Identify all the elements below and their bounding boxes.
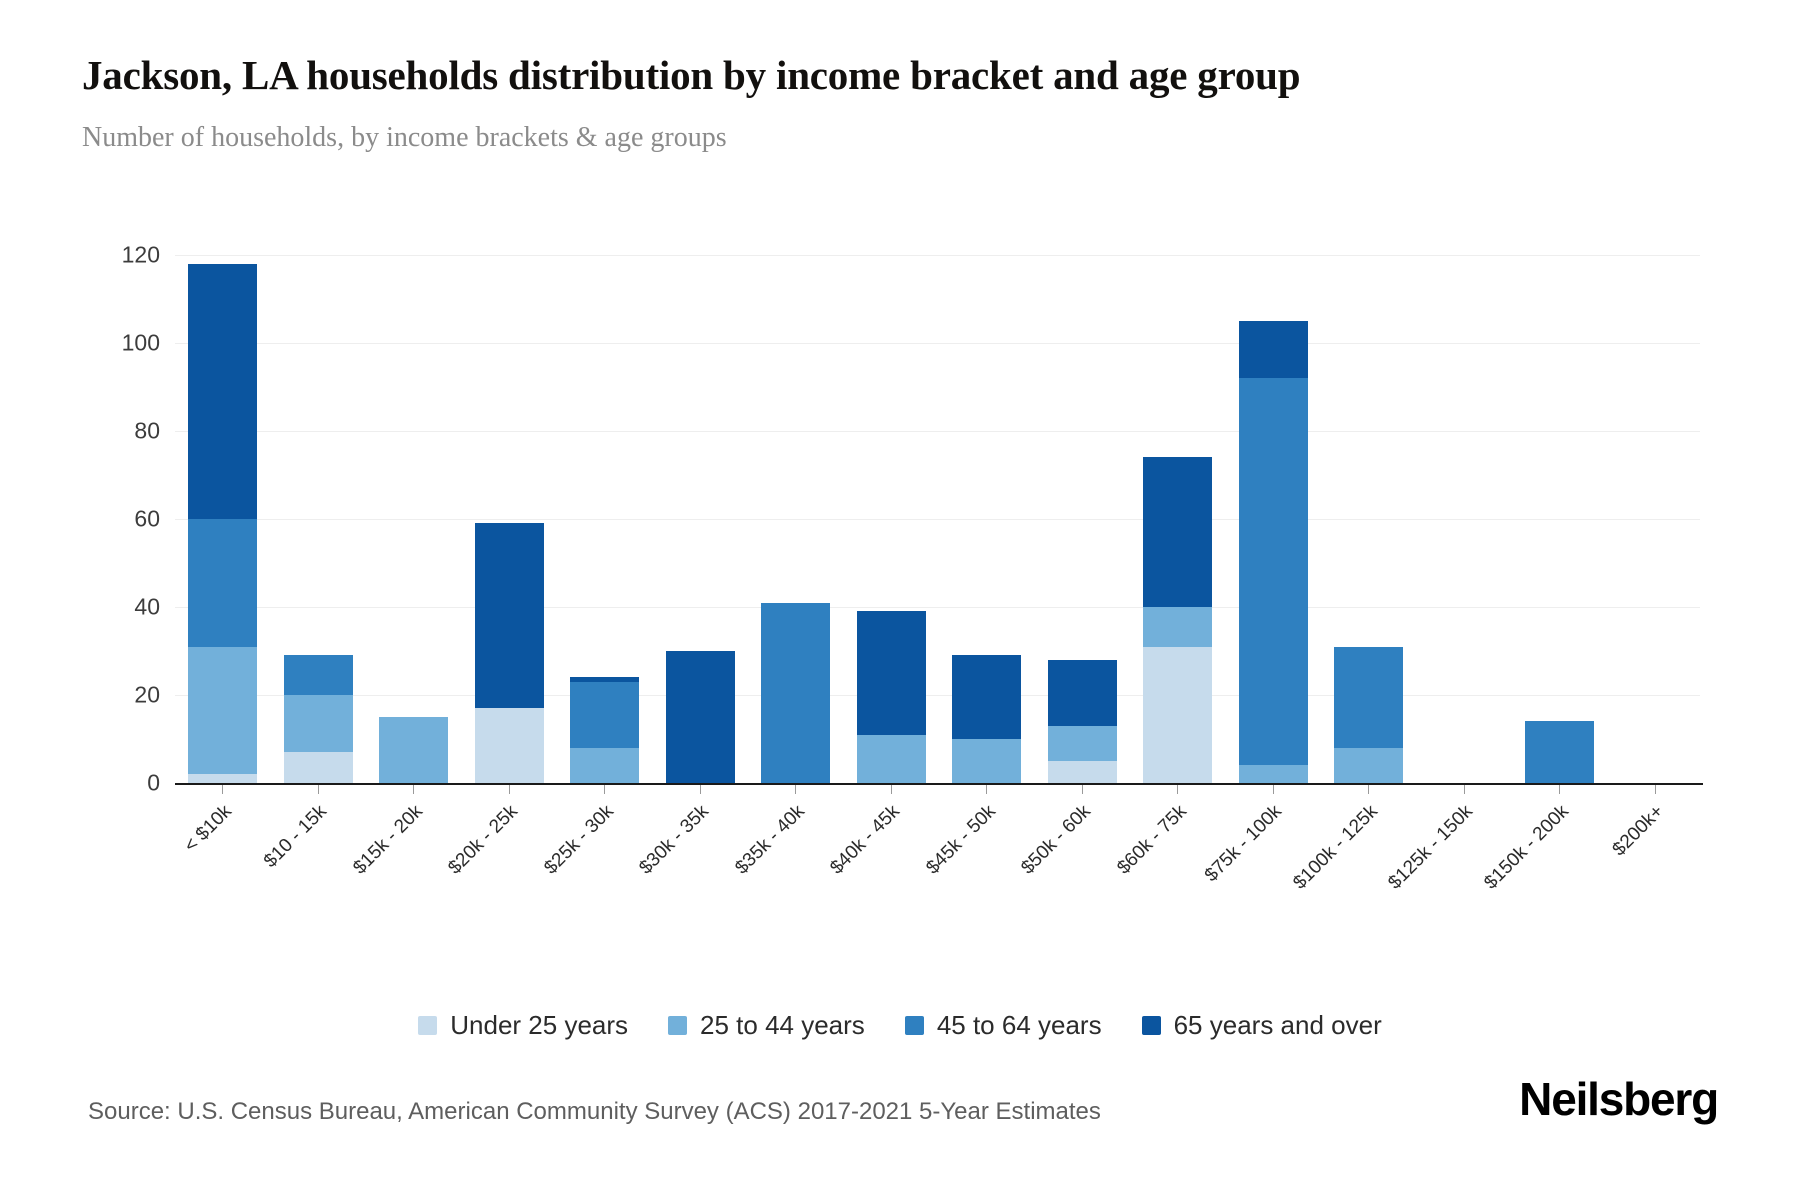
- x-axis-tick-label-text: $200k+: [1609, 801, 1669, 861]
- x-axis-label-slot: $150k - 200k: [1512, 795, 1608, 915]
- bar-group[interactable]: [557, 255, 653, 783]
- x-axis-label-slot: $25k - 30k: [557, 795, 653, 915]
- chart-legend: Under 25 years25 to 44 years45 to 64 yea…: [0, 1010, 1800, 1041]
- bar-segment[interactable]: [1048, 660, 1117, 726]
- source-note: Source: U.S. Census Bureau, American Com…: [88, 1098, 1101, 1126]
- x-axis-tick-label-text: $10 - 15k: [260, 801, 332, 873]
- legend-label: 45 to 64 years: [937, 1010, 1102, 1041]
- y-axis-tick-label: 60: [70, 506, 160, 533]
- y-axis-tick-label: 0: [70, 770, 160, 797]
- bar-group[interactable]: [844, 255, 940, 783]
- bar-group[interactable]: [1035, 255, 1131, 783]
- tick-mark: [1655, 785, 1656, 794]
- tick-mark: [318, 785, 319, 794]
- bar-segment[interactable]: [857, 611, 926, 734]
- y-axis-tick-label: 80: [70, 418, 160, 445]
- legend-label: 25 to 44 years: [700, 1010, 865, 1041]
- x-axis-label-slot: $50k - 60k: [1035, 795, 1131, 915]
- y-axis-tick-label: 20: [70, 682, 160, 709]
- x-axis-label-slot: $40k - 45k: [844, 795, 940, 915]
- chart-page: Jackson, LA households distribution by i…: [0, 0, 1800, 1200]
- bar-segment[interactable]: [475, 523, 544, 708]
- legend-item[interactable]: 25 to 44 years: [668, 1010, 865, 1041]
- bar-stack[interactable]: [284, 655, 353, 783]
- bar-group[interactable]: [1512, 255, 1608, 783]
- bar-stack[interactable]: [1048, 660, 1117, 783]
- bar-stack[interactable]: [952, 655, 1021, 783]
- legend-item[interactable]: 45 to 64 years: [905, 1010, 1102, 1041]
- tick-mark: [1273, 785, 1274, 794]
- legend-swatch-icon: [668, 1016, 687, 1035]
- bar-segment[interactable]: [188, 264, 257, 519]
- bar-stack[interactable]: [475, 523, 544, 783]
- bar-group[interactable]: [1226, 255, 1322, 783]
- legend-swatch-icon: [905, 1016, 924, 1035]
- chart-subtitle: Number of households, by income brackets…: [82, 120, 1602, 156]
- bar-segment[interactable]: [1143, 457, 1212, 607]
- tick-mark: [986, 785, 987, 794]
- x-axis-label-slot: $45k - 50k: [939, 795, 1035, 915]
- bar-segment[interactable]: [1143, 647, 1212, 783]
- bar-group[interactable]: [1608, 255, 1704, 783]
- x-axis-label-slot: $75k - 100k: [1226, 795, 1322, 915]
- tick-mark: [1177, 785, 1178, 794]
- chart-header: Jackson, LA households distribution by i…: [82, 48, 1602, 157]
- tick-mark: [509, 785, 510, 794]
- legend-item[interactable]: Under 25 years: [418, 1010, 628, 1041]
- legend-swatch-icon: [418, 1016, 437, 1035]
- bar-segment[interactable]: [188, 647, 257, 775]
- x-axis-label-slot: $15k - 20k: [366, 795, 462, 915]
- tick-mark: [700, 785, 701, 794]
- bar-group[interactable]: [271, 255, 367, 783]
- y-axis-tick-label: 120: [70, 242, 160, 269]
- tick-mark: [413, 785, 414, 794]
- legend-label: Under 25 years: [450, 1010, 628, 1041]
- x-axis-label-slot: $60k - 75k: [1130, 795, 1226, 915]
- bar-group[interactable]: [1321, 255, 1417, 783]
- chart-footer: Source: U.S. Census Bureau, American Com…: [0, 1070, 1800, 1160]
- bar-group[interactable]: [1130, 255, 1226, 783]
- tick-mark: [1082, 785, 1083, 794]
- bar-segment[interactable]: [1334, 647, 1403, 748]
- x-axis-label-slot: $100k - 125k: [1321, 795, 1417, 915]
- bar-group[interactable]: [1417, 255, 1513, 783]
- bar-segment[interactable]: [284, 695, 353, 752]
- bar-group[interactable]: [748, 255, 844, 783]
- bar-group[interactable]: [653, 255, 749, 783]
- x-axis-label-slot: $35k - 40k: [748, 795, 844, 915]
- bar-stack[interactable]: [188, 264, 257, 783]
- bar-segment[interactable]: [284, 655, 353, 695]
- legend-item[interactable]: 65 years and over: [1142, 1010, 1382, 1041]
- bar-stack[interactable]: [379, 717, 448, 783]
- legend-label: 65 years and over: [1174, 1010, 1382, 1041]
- x-axis-tick-label-text: < $10k: [180, 801, 236, 857]
- tick-mark: [1368, 785, 1369, 794]
- bar-group[interactable]: [175, 255, 271, 783]
- x-axis-label-slot: $200k+: [1608, 795, 1704, 915]
- y-axis-tick-label: 100: [70, 330, 160, 357]
- legend-swatch-icon: [1142, 1016, 1161, 1035]
- bar-stack[interactable]: [1143, 457, 1212, 783]
- x-axis-label-slot: $20k - 25k: [462, 795, 558, 915]
- tick-mark: [1559, 785, 1560, 794]
- bar-group[interactable]: [366, 255, 462, 783]
- y-axis-tick-label: 40: [70, 594, 160, 621]
- page-title: Jackson, LA households distribution by i…: [82, 48, 1572, 102]
- bar-segment[interactable]: [1239, 378, 1308, 765]
- bar-stack[interactable]: [1334, 647, 1403, 783]
- bar-stack[interactable]: [570, 677, 639, 783]
- brand-logo: Neilsberg: [1519, 1072, 1718, 1126]
- bar-segment[interactable]: [666, 651, 735, 783]
- bar-segment[interactable]: [1143, 607, 1212, 647]
- bar-segment[interactable]: [188, 519, 257, 647]
- bar-segment[interactable]: [475, 708, 544, 783]
- bar-segment[interactable]: [570, 682, 639, 748]
- x-axis-label-slot: $30k - 35k: [653, 795, 749, 915]
- bar-segment[interactable]: [1239, 321, 1308, 378]
- bar-series-container: [175, 255, 1703, 783]
- tick-mark: [604, 785, 605, 794]
- x-axis-labels: < $10k$10 - 15k$15k - 20k$20k - 25k$25k …: [175, 795, 1703, 915]
- bar-group[interactable]: [462, 255, 558, 783]
- x-axis-label-slot: $125k - 150k: [1417, 795, 1513, 915]
- bar-stack[interactable]: [666, 651, 735, 783]
- tick-mark: [222, 785, 223, 794]
- tick-mark: [795, 785, 796, 794]
- bar-segment[interactable]: [952, 655, 1021, 739]
- tick-mark: [1464, 785, 1465, 794]
- bar-group[interactable]: [939, 255, 1035, 783]
- bar-segment[interactable]: [379, 717, 448, 783]
- bar-stack[interactable]: [1239, 321, 1308, 783]
- x-axis-label-slot: $10 - 15k: [271, 795, 367, 915]
- tick-mark: [891, 785, 892, 794]
- x-axis-label-slot: < $10k: [175, 795, 271, 915]
